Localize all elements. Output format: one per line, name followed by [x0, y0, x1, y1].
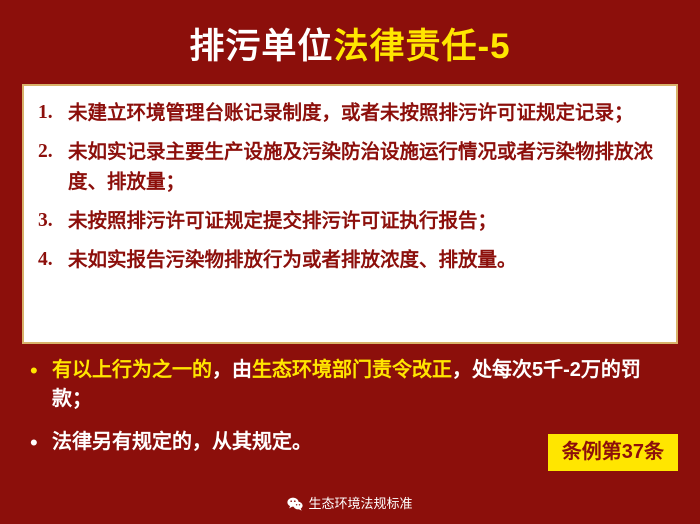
list-item: 2. 未如实记录主要生产设施及污染防治设施运行情况或者污染物排放浓度、排放量； — [38, 137, 662, 197]
bullet-item: • 有以上行为之一的，由生态环境部门责令改正，处每次5千-2万的罚款； — [30, 356, 670, 414]
list-item-text: 未如实报告污染物排放行为或者排放浓度、排放量。 — [68, 245, 662, 275]
bullet-marker-icon: • — [30, 356, 52, 385]
bullet-text-seg-2: ，由 — [212, 359, 252, 381]
bullet-text: 有以上行为之一的，由生态环境部门责令改正，处每次5千-2万的罚款； — [52, 356, 670, 414]
list-item-index: 2. — [38, 137, 68, 167]
list-item-text: 未按照排污许可证规定提交排污许可证执行报告； — [68, 206, 662, 236]
content-panel: 1. 未建立环境管理台账记录制度，或者未按照排污许可证规定记录； 2. 未如实记… — [22, 84, 678, 344]
page-title: 排污单位法律责任-5 — [0, 26, 700, 68]
list-item: 4. 未如实报告污染物排放行为或者排放浓度、排放量。 — [38, 245, 662, 275]
bullet-text-seg-1: 有以上行为之一的 — [52, 359, 212, 381]
status-badge: 条例第37条 — [548, 434, 678, 471]
footer-label: 生态环境法规标准 — [308, 496, 412, 511]
list-item-index: 4. — [38, 245, 68, 275]
title-part-2: 法律责任-5 — [333, 27, 510, 66]
list-item-index: 3. — [38, 206, 68, 236]
footer: 生态环境法规标准 — [0, 495, 700, 516]
bullet-marker-icon: • — [30, 428, 52, 457]
list-item-index: 1. — [38, 98, 68, 128]
slide-root: 排污单位法律责任-5 1. 未建立环境管理台账记录制度，或者未按照排污许可证规定… — [0, 0, 700, 524]
list-item: 3. 未按照排污许可证规定提交排污许可证执行报告； — [38, 206, 662, 236]
title-part-1: 排污单位 — [189, 27, 333, 66]
list-item-text: 未如实记录主要生产设施及污染防治设施运行情况或者污染物排放浓度、排放量； — [68, 137, 662, 197]
list-item-text: 未建立环境管理台账记录制度，或者未按照排污许可证规定记录； — [68, 98, 662, 128]
bullet-text-seg-3: 生态环境部门责令改正 — [252, 359, 452, 381]
wechat-icon — [287, 497, 303, 516]
list-item: 1. 未建立环境管理台账记录制度，或者未按照排污许可证规定记录； — [38, 98, 662, 128]
